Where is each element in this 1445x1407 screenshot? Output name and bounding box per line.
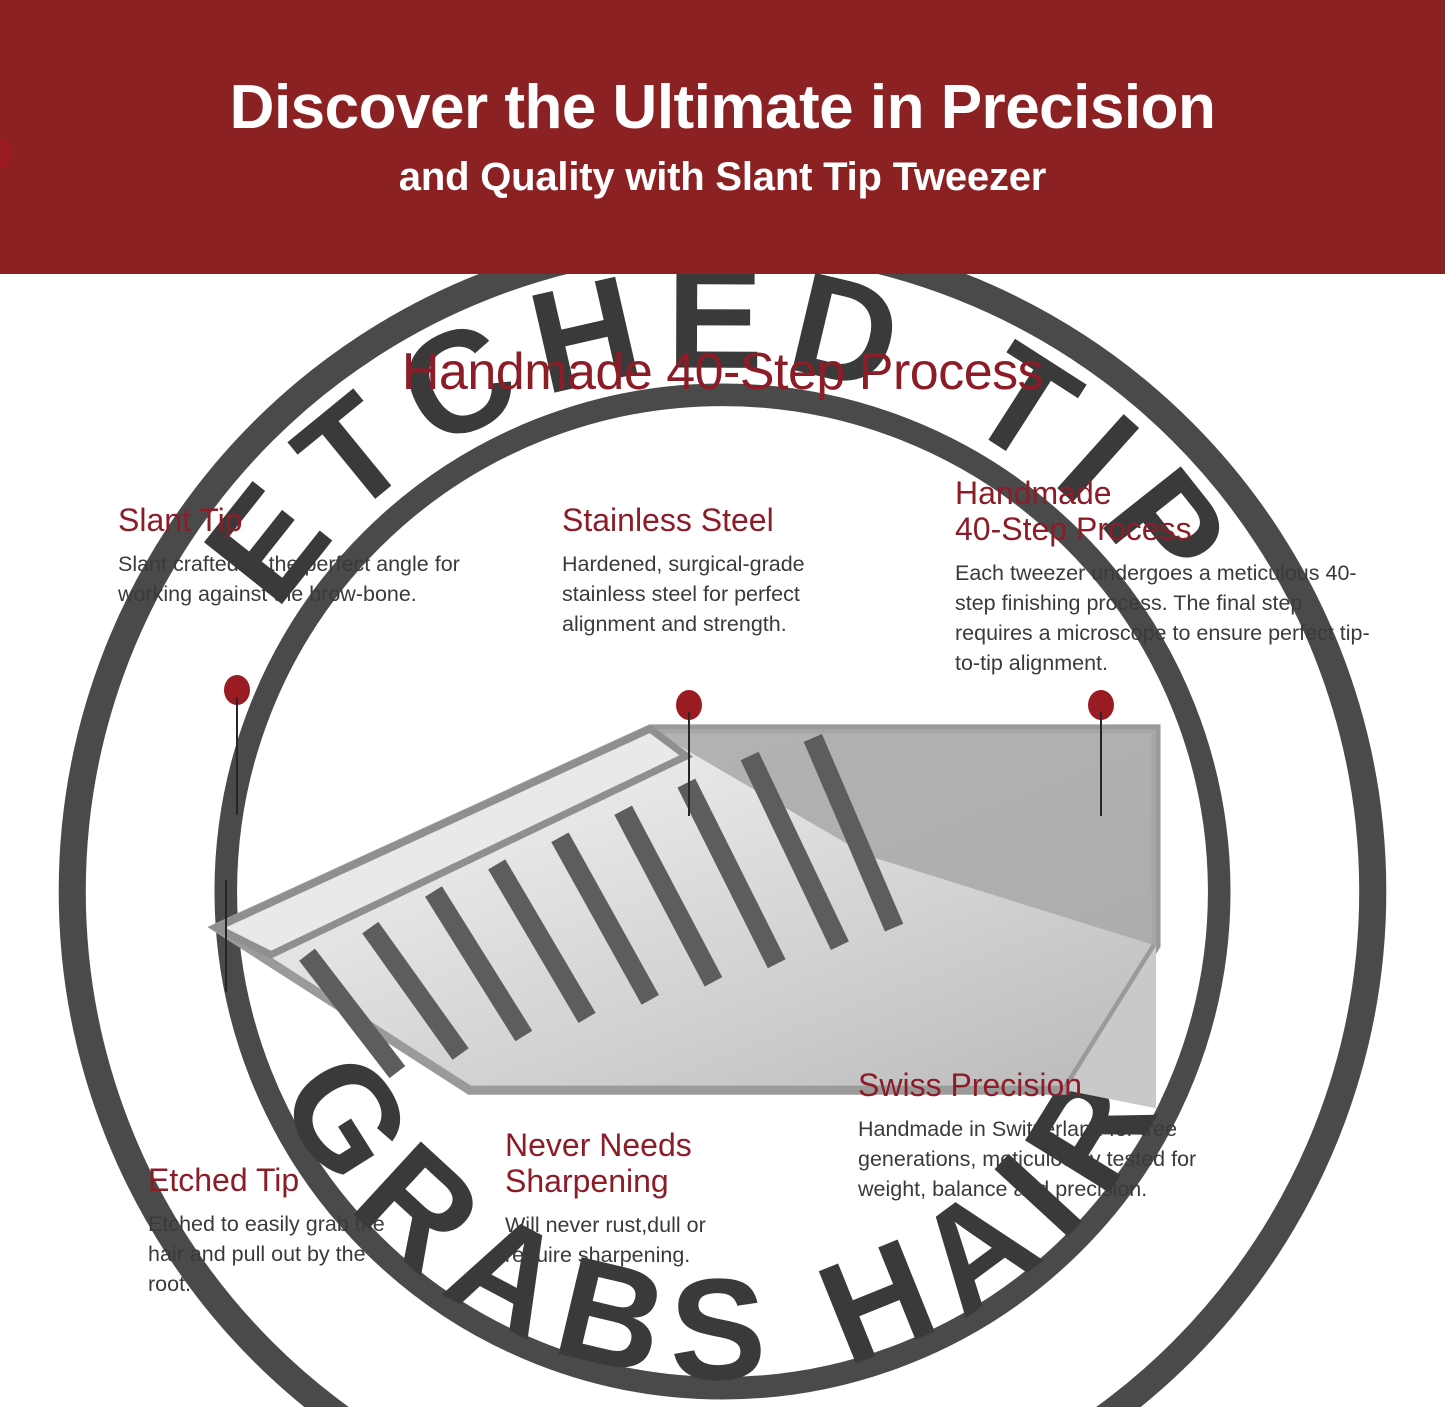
pin-leader-line <box>1100 712 1102 816</box>
pin-leader-line <box>225 880 227 992</box>
pin-leader-line <box>688 712 690 816</box>
feature-body: Slant crafted at the perfect angle for w… <box>118 549 463 609</box>
feature-block-etched-tip: Etched Tip Etched to easily grab the hai… <box>148 1163 408 1299</box>
pin-leader-line <box>236 697 238 815</box>
feature-block-handmade-40-step: Handmade 40-Step Process Each tweezer un… <box>955 476 1380 678</box>
feature-body: Handmade in Switzerland for tree generat… <box>858 1114 1203 1204</box>
feature-body: Each tweezer undergoes a meticulous 40-s… <box>955 558 1380 678</box>
feature-block-swiss-precision: Swiss Precision Handmade in Switzerland … <box>858 1068 1203 1204</box>
feature-block-never-needs-sharpening: Never Needs Sharpening Will never rust,d… <box>505 1128 755 1270</box>
feature-block-stainless-steel: Stainless Steel Hardened, surgical-grade… <box>562 503 862 639</box>
feature-body: Hardened, surgical-grade stainless steel… <box>562 549 862 639</box>
feature-title: Swiss Precision <box>858 1068 1203 1104</box>
header-banner: Discover the Ultimate in Precision and Q… <box>0 0 1445 274</box>
feature-block-slant-tip: Slant Tip Slant crafted at the perfect a… <box>118 503 463 609</box>
infographic-page: Discover the Ultimate in Precision and Q… <box>0 0 1445 1407</box>
section-heading: Handmade 40-Step Process <box>0 345 1445 400</box>
feature-body: Will never rust,dull or require sharpeni… <box>505 1210 755 1270</box>
feature-title: Slant Tip <box>118 503 463 539</box>
banner-subtitle: and Quality with Slant Tip Tweezer <box>399 157 1046 197</box>
feature-title: Stainless Steel <box>562 503 862 539</box>
feature-body: Etched to easily grab the hair and pull … <box>148 1209 408 1299</box>
feature-title: Handmade 40-Step Process <box>955 476 1380 548</box>
banner-title: Discover the Ultimate in Precision <box>230 77 1216 139</box>
feature-title: Never Needs Sharpening <box>505 1128 755 1200</box>
feature-title: Etched Tip <box>148 1163 408 1199</box>
